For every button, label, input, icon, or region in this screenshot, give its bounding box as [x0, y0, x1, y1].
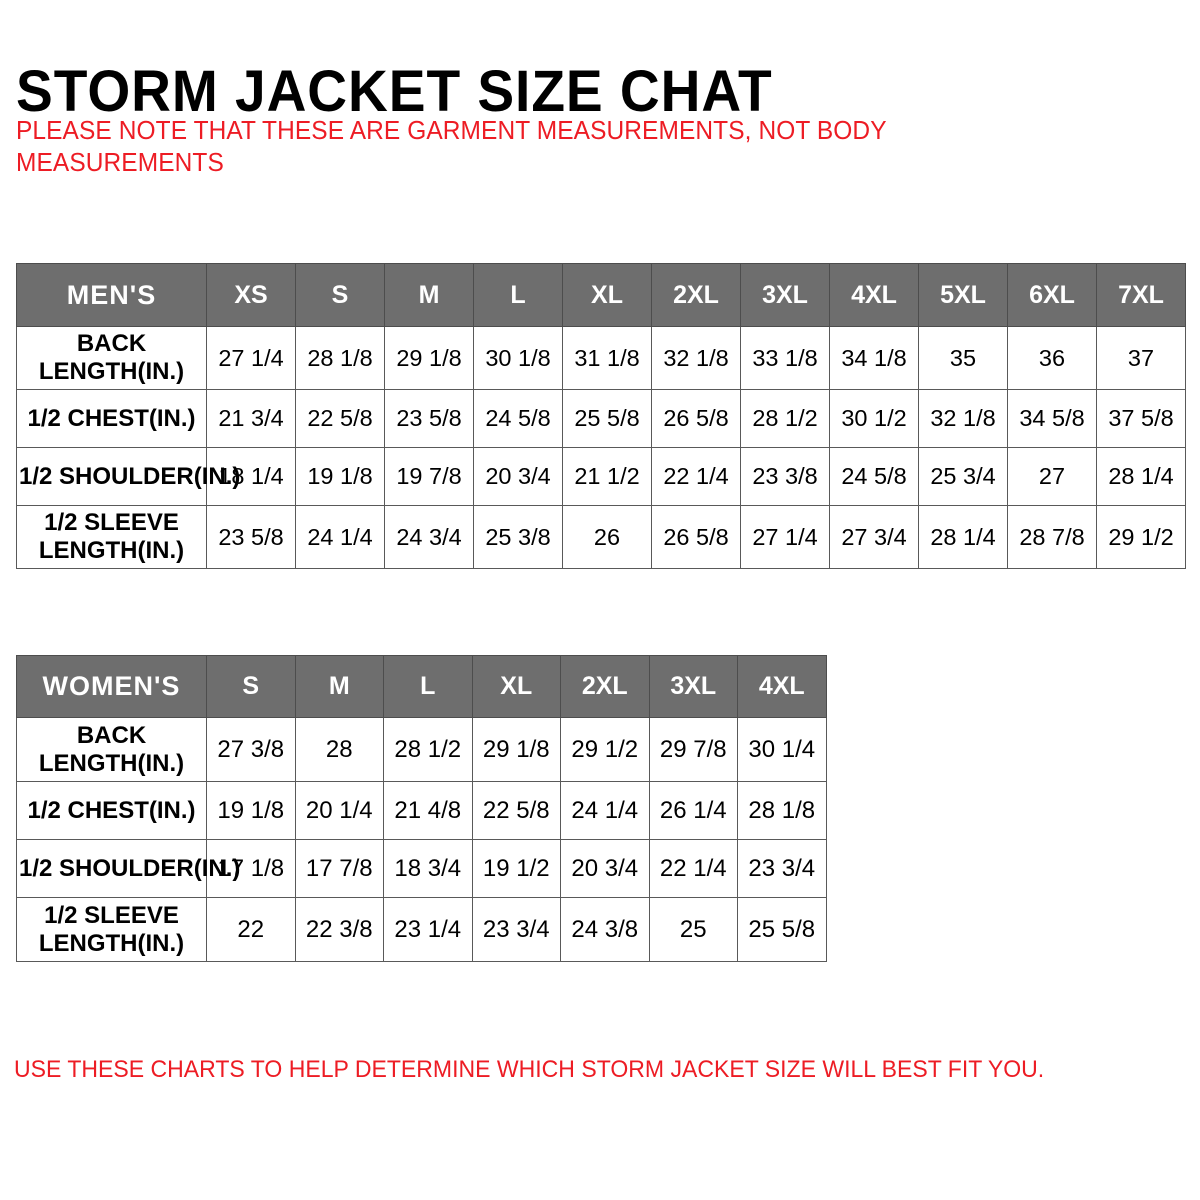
mens-size-header-3xl: 3XL [741, 264, 830, 327]
measurement-cell: 20 1/4 [295, 782, 384, 840]
measurement-cell: 23 5/8 [207, 506, 296, 569]
measurement-cell: 35 [919, 327, 1008, 390]
measurement-cell: 24 1/4 [296, 506, 385, 569]
help-determine-size-note: USE THESE CHARTS TO HELP DETERMINE WHICH… [14, 1055, 1104, 1085]
womens-size-header-2xl: 2XL [561, 656, 650, 718]
measurement-cell: 20 3/4 [561, 840, 650, 898]
measurement-cell: 23 3/8 [741, 448, 830, 506]
measurement-cell: 34 1/8 [830, 327, 919, 390]
measurement-cell: 32 1/8 [652, 327, 741, 390]
womens-measurement-label: 1/2 SHOULDER(IN.) [17, 840, 207, 898]
mens-size-header-4xl: 4XL [830, 264, 919, 327]
mens-size-header-5xl: 5XL [919, 264, 1008, 327]
womens-measurement-label: 1/2 CHEST(IN.) [17, 782, 207, 840]
mens-table-header: MEN'SXSSMLXL2XL3XL4XL5XL6XL7XL [17, 264, 1186, 327]
measurement-cell: 22 5/8 [296, 390, 385, 448]
table-row: 1/2 SHOULDER(IN.)18 1/419 1/819 7/820 3/… [17, 448, 1186, 506]
measurement-cell: 25 5/8 [563, 390, 652, 448]
measurement-cell: 28 1/4 [1097, 448, 1186, 506]
measurement-cell: 18 3/4 [384, 840, 473, 898]
measurement-cell: 22 3/8 [295, 898, 384, 962]
table-row: 1/2 SHOULDER(IN.)17 1/817 7/818 3/419 1/… [17, 840, 827, 898]
measurement-cell: 22 1/4 [652, 448, 741, 506]
measurement-cell: 28 1/8 [738, 782, 827, 840]
measurement-cell: 24 3/8 [561, 898, 650, 962]
measurement-cell: 29 1/8 [472, 718, 561, 782]
table-row: 1/2 CHEST(IN.)19 1/820 1/421 4/822 5/824… [17, 782, 827, 840]
page-title: STORM JACKET SIZE CHAT [16, 61, 773, 123]
womens-size-header-4xl: 4XL [738, 656, 827, 718]
measurement-cell: 23 3/4 [472, 898, 561, 962]
measurement-cell: 19 1/2 [472, 840, 561, 898]
measurement-cell: 19 7/8 [385, 448, 474, 506]
mens-size-header-2xl: 2XL [652, 264, 741, 327]
measurement-cell: 24 3/4 [385, 506, 474, 569]
measurement-cell: 27 3/4 [830, 506, 919, 569]
measurement-cell: 28 1/2 [741, 390, 830, 448]
table-row: BACKLENGTH(IN.)27 1/428 1/829 1/830 1/83… [17, 327, 1186, 390]
mens-measurement-label: 1/2 SHOULDER(IN.) [17, 448, 207, 506]
measurement-cell: 28 7/8 [1008, 506, 1097, 569]
size-chart-page: STORM JACKET SIZE CHAT PLEASE NOTE THAT … [0, 0, 1200, 1200]
womens-measurement-label: BACKLENGTH(IN.) [17, 718, 207, 782]
measurement-cell: 25 5/8 [738, 898, 827, 962]
measurement-cell: 26 5/8 [652, 390, 741, 448]
measurement-cell: 29 1/2 [1097, 506, 1186, 569]
measurement-cell: 33 1/8 [741, 327, 830, 390]
measurement-cell: 23 1/4 [384, 898, 473, 962]
measurement-cell: 34 5/8 [1008, 390, 1097, 448]
womens-header-row: WOMEN'SSMLXL2XL3XL4XL [17, 656, 827, 718]
table-row: 1/2 CHEST(IN.)21 3/422 5/823 5/824 5/825… [17, 390, 1186, 448]
measurement-cell: 27 [1008, 448, 1097, 506]
table-row: 1/2 SLEEVELENGTH(IN.)23 5/824 1/424 3/42… [17, 506, 1186, 569]
mens-size-table: MEN'SXSSMLXL2XL3XL4XL5XL6XL7XL BACKLENGT… [16, 263, 1186, 569]
mens-table-body: BACKLENGTH(IN.)27 1/428 1/829 1/830 1/83… [17, 327, 1186, 569]
measurement-cell: 23 5/8 [385, 390, 474, 448]
mens-size-header-xs: XS [207, 264, 296, 327]
mens-size-header-s: S [296, 264, 385, 327]
womens-size-header-3xl: 3XL [649, 656, 738, 718]
mens-size-header-7xl: 7XL [1097, 264, 1186, 327]
mens-size-header-6xl: 6XL [1008, 264, 1097, 327]
measurement-cell: 25 [649, 898, 738, 962]
womens-corner-header: WOMEN'S [17, 656, 207, 718]
measurement-cell: 21 4/8 [384, 782, 473, 840]
measurement-cell: 28 [295, 718, 384, 782]
measurement-cell: 37 5/8 [1097, 390, 1186, 448]
measurement-cell: 19 1/8 [207, 782, 296, 840]
measurement-cell: 31 1/8 [563, 327, 652, 390]
measurement-cell: 24 1/4 [561, 782, 650, 840]
measurement-cell: 37 [1097, 327, 1186, 390]
measurement-cell: 26 5/8 [652, 506, 741, 569]
mens-measurement-label: 1/2 SLEEVELENGTH(IN.) [17, 506, 207, 569]
measurement-cell: 22 5/8 [472, 782, 561, 840]
measurement-cell: 36 [1008, 327, 1097, 390]
mens-corner-header: MEN'S [17, 264, 207, 327]
measurement-cell: 30 1/2 [830, 390, 919, 448]
womens-table-header: WOMEN'SSMLXL2XL3XL4XL [17, 656, 827, 718]
womens-size-header-s: S [207, 656, 296, 718]
measurement-cell: 22 1/4 [649, 840, 738, 898]
measurement-cell: 22 [207, 898, 296, 962]
measurement-cell: 30 1/4 [738, 718, 827, 782]
measurement-cell: 27 1/4 [207, 327, 296, 390]
measurement-cell: 28 1/8 [296, 327, 385, 390]
measurement-cell: 26 1/4 [649, 782, 738, 840]
mens-size-header-m: M [385, 264, 474, 327]
measurement-cell: 21 1/2 [563, 448, 652, 506]
measurement-cell: 32 1/8 [919, 390, 1008, 448]
measurement-cell: 25 3/4 [919, 448, 1008, 506]
womens-size-header-l: L [384, 656, 473, 718]
measurement-cell: 26 [563, 506, 652, 569]
measurement-cell: 20 3/4 [474, 448, 563, 506]
womens-measurement-label: 1/2 SLEEVELENGTH(IN.) [17, 898, 207, 962]
measurement-cell: 24 5/8 [474, 390, 563, 448]
measurement-cell: 17 7/8 [295, 840, 384, 898]
measurement-cell: 30 1/8 [474, 327, 563, 390]
mens-size-header-xl: XL [563, 264, 652, 327]
measurement-cell: 17 1/8 [207, 840, 296, 898]
table-row: 1/2 SLEEVELENGTH(IN.)2222 3/823 1/423 3/… [17, 898, 827, 962]
mens-measurement-label: BACKLENGTH(IN.) [17, 327, 207, 390]
measurement-cell: 28 1/4 [919, 506, 1008, 569]
womens-size-header-m: M [295, 656, 384, 718]
measurement-cell: 29 1/2 [561, 718, 650, 782]
measurement-cell: 27 3/8 [207, 718, 296, 782]
measurement-cell: 23 3/4 [738, 840, 827, 898]
measurement-cell: 21 3/4 [207, 390, 296, 448]
measurement-cell: 18 1/4 [207, 448, 296, 506]
womens-table-body: BACKLENGTH(IN.)27 3/82828 1/229 1/829 1/… [17, 718, 827, 962]
measurement-cell: 19 1/8 [296, 448, 385, 506]
mens-size-header-l: L [474, 264, 563, 327]
measurement-cell: 29 1/8 [385, 327, 474, 390]
measurement-cell: 27 1/4 [741, 506, 830, 569]
table-row: BACKLENGTH(IN.)27 3/82828 1/229 1/829 1/… [17, 718, 827, 782]
garment-measurement-note: PLEASE NOTE THAT THESE ARE GARMENT MEASU… [16, 115, 976, 179]
measurement-cell: 28 1/2 [384, 718, 473, 782]
womens-size-table: WOMEN'SSMLXL2XL3XL4XL BACKLENGTH(IN.)27 … [16, 655, 827, 962]
womens-size-header-xl: XL [472, 656, 561, 718]
measurement-cell: 24 5/8 [830, 448, 919, 506]
mens-header-row: MEN'SXSSMLXL2XL3XL4XL5XL6XL7XL [17, 264, 1186, 327]
measurement-cell: 25 3/8 [474, 506, 563, 569]
mens-measurement-label: 1/2 CHEST(IN.) [17, 390, 207, 448]
measurement-cell: 29 7/8 [649, 718, 738, 782]
